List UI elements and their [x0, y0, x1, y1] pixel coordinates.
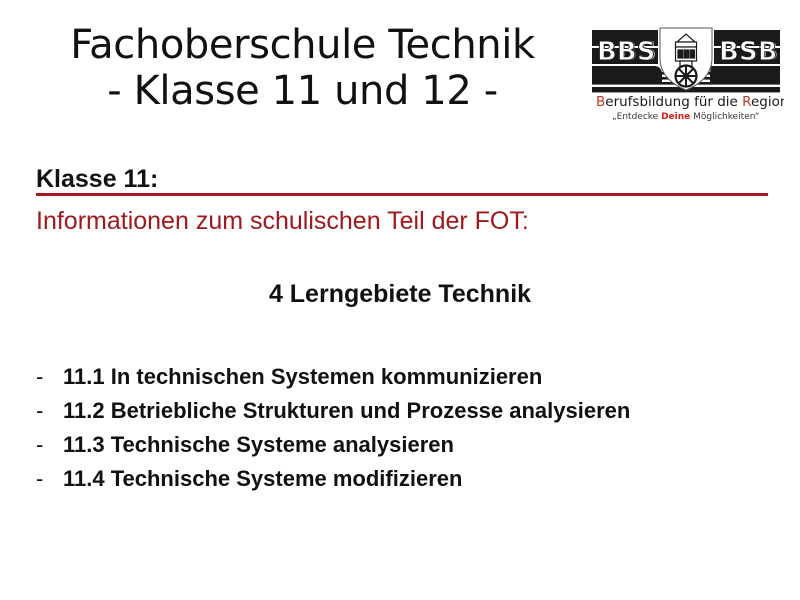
city-crest-icon: [676, 34, 697, 87]
list-item: - 11.2 Betriebliche Strukturen und Proze…: [36, 396, 776, 430]
list-item: - 11.4 Technische Systeme modifizieren: [36, 464, 776, 498]
section-heading: Klasse 11:: [36, 166, 158, 195]
list-item-label: 11.3 Technische Systeme analysieren: [63, 430, 454, 460]
list-item-label: 11.4 Technische Systeme modifizieren: [63, 464, 462, 494]
section-heading-row: Klasse 11:: [36, 166, 768, 194]
logo-tagline: Berufsbildung für die Region: [596, 94, 784, 110]
svg-text:„Entdecke Deine Möglichkeiten“: „Entdecke Deine Möglichkeiten“: [612, 112, 759, 122]
svg-text:BBS: BBS: [597, 37, 655, 67]
bbs-bsb-logo: BBS BBS BSB BSB: [588, 26, 784, 124]
title-line-2: - Klasse 11 und 12 -: [30, 68, 575, 114]
svg-text:BSB: BSB: [719, 37, 777, 67]
bullet-dash-icon: -: [36, 396, 63, 426]
bullet-dash-icon: -: [36, 464, 63, 494]
list-item-label: 11.1 In technischen Systemen kommunizier…: [63, 362, 542, 392]
wheel-icon: [676, 66, 697, 87]
bullet-dash-icon: -: [36, 362, 63, 392]
slide-title: Fachoberschule Technik - Klasse 11 und 1…: [30, 22, 575, 114]
learning-areas-list: - 11.1 In technischen Systemen kommunizi…: [36, 362, 776, 498]
list-item-label: 11.2 Betriebliche Strukturen und Prozess…: [63, 396, 630, 426]
list-item: - 11.3 Technische Systeme analysieren: [36, 430, 776, 464]
heading-red-rule: [36, 193, 768, 196]
learning-areas-heading: 4 Lerngebiete Technik: [0, 279, 800, 309]
logo-slogan: „Entdecke Deine Möglichkeiten“: [612, 112, 759, 122]
bullet-dash-icon: -: [36, 430, 63, 460]
list-item: - 11.1 In technischen Systemen kommunizi…: [36, 362, 776, 396]
title-line-1: Fachoberschule Technik: [30, 22, 575, 68]
svg-text:Berufsbildung für die Region: Berufsbildung für die Region: [596, 94, 784, 110]
logo-graphic: BBS BBS BSB BSB: [588, 26, 784, 124]
subtitle-text: Informationen zum schulischen Teil der F…: [36, 205, 529, 237]
presentation-slide: Fachoberschule Technik - Klasse 11 und 1…: [0, 0, 800, 600]
